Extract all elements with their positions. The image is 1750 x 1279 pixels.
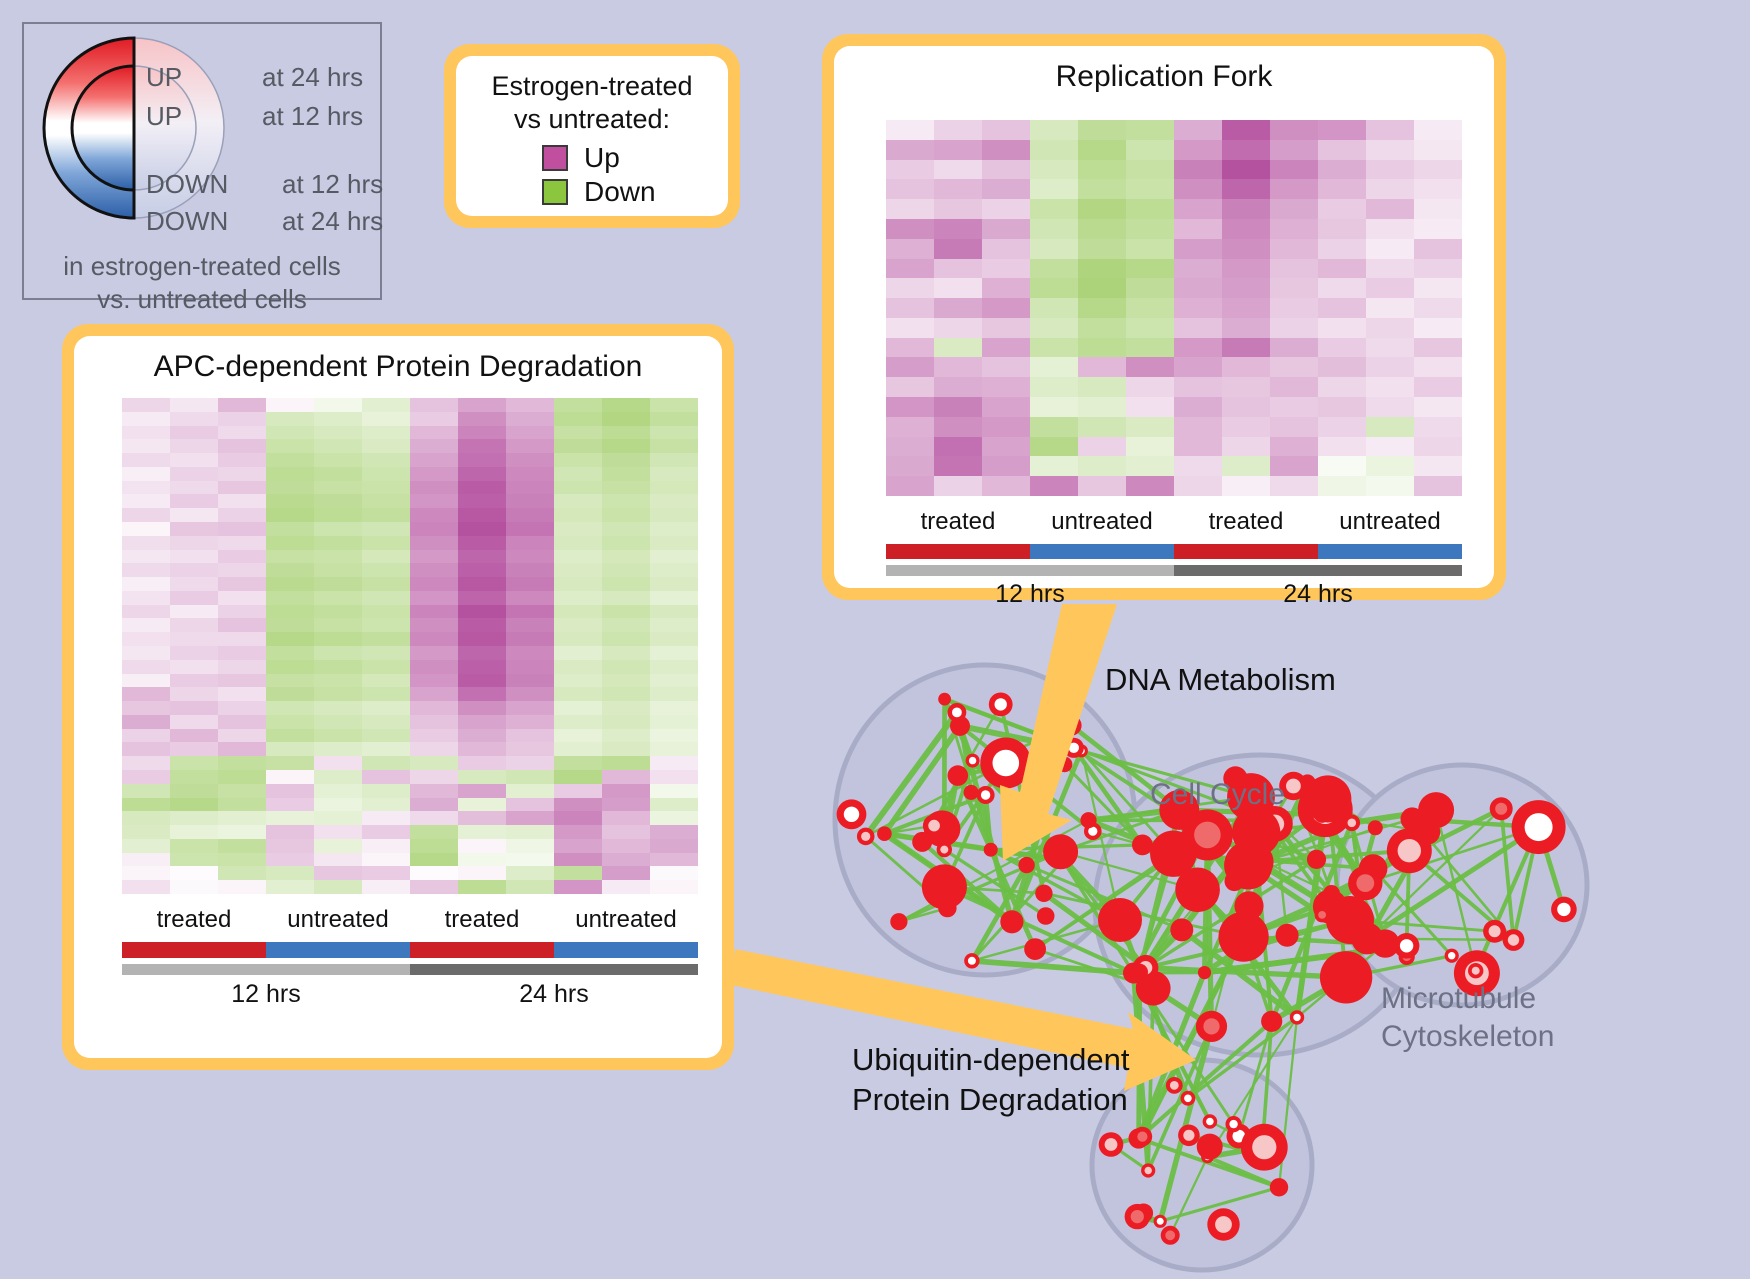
heatmap-cell [410,715,458,729]
heatmap-cell [886,259,934,279]
heatmap-cell [506,756,554,770]
heatmap-cell [1030,377,1078,397]
heatmap-cell [362,577,410,591]
cluster-label-ubiquitin-degradation: Ubiquitin-dependent Protein Degradation [852,1040,1130,1120]
heatmap-cell [218,839,266,853]
heatmap-cell [602,646,650,660]
heatmap-cell [218,522,266,536]
heatmap-cell [458,426,506,440]
heatmap-cell [650,618,698,632]
heatmap-cell [650,439,698,453]
heatmap-cell [602,577,650,591]
heatmap-cell [1030,357,1078,377]
heatmap-cell [410,742,458,756]
network-node [1150,831,1196,877]
heatmap-cell [362,756,410,770]
heatmap-cell [650,481,698,495]
network-node-core [1252,1135,1276,1159]
heatmap-cell [650,715,698,729]
heatmap-cell [602,674,650,688]
heatmap-cell [1030,476,1078,496]
heatmap-cell [218,742,266,756]
heatmap-cell [122,811,170,825]
heatmap-cell [410,508,458,522]
heatmap-cell [1414,140,1462,160]
heatmap-cell [982,377,1030,397]
heatmap-cell [458,660,506,674]
heatmap-cell [1270,278,1318,298]
heatmap-cell [650,522,698,536]
heatmap-cell [506,398,554,412]
heatmap-cell [602,770,650,784]
network-node [1037,907,1055,925]
heatmap-cell [362,605,410,619]
heatmap-cell [650,674,698,688]
heatmap-cell [266,866,314,880]
heatmap-cell [886,120,934,140]
heatmap-cell [314,481,362,495]
heatmap-cell [170,522,218,536]
heatmap-cell [934,259,982,279]
heatmap-cell [602,522,650,536]
heatmap-cell [314,618,362,632]
heatmap-cell [1222,120,1270,140]
heatmap-cell [506,522,554,536]
heatmap-cell [362,687,410,701]
heatmap-cell [266,577,314,591]
network-node-core [952,708,962,718]
heatmap-cell [1366,476,1414,496]
heatmap-cell [458,494,506,508]
heatmap-cell [934,199,982,219]
heatmap-cell [1174,219,1222,239]
heatmap-cell [1414,417,1462,437]
heatmap-cell [1078,476,1126,496]
heatmap-cell [362,508,410,522]
heatmap-cell [170,605,218,619]
heatmap-cell [458,866,506,880]
heatmap-cell [218,853,266,867]
heatmap-cell [458,632,506,646]
heatmap-cell [314,770,362,784]
network-node [1080,812,1096,828]
heatmap-cell [410,550,458,564]
heatmap-cell [1270,417,1318,437]
heatmap-cell [650,632,698,646]
heatmap-cell [554,467,602,481]
heatmap-cell [122,439,170,453]
heatmap-cell [650,701,698,715]
network-node [1307,850,1326,869]
heatmap-cell [362,839,410,853]
heatmap-cell [1366,140,1414,160]
heatmap-cell [218,825,266,839]
heatmap-cell [1126,140,1174,160]
heatmap-cell [170,591,218,605]
heatmap-cell [266,798,314,812]
heatmap-cell [1222,318,1270,338]
heatmap-cell [122,618,170,632]
heatmap-cell [1414,377,1462,397]
network-node-core [993,750,1020,777]
heatmap-cell [602,494,650,508]
heatmap-cell [218,508,266,522]
heatmap-cell [1174,456,1222,476]
heatmap-cell [362,426,410,440]
heatmap-cell [362,729,410,743]
key-up-12-time: at 12 hrs [262,101,363,132]
heatmap-cell [602,687,650,701]
heatmap-cell [982,239,1030,259]
heatmap-cell [122,687,170,701]
heatmap-cell [218,729,266,743]
heatmap-cell [362,853,410,867]
replication-fork-title: Replication Fork [834,60,1494,94]
replication-fork-time-color-bar [886,565,1462,576]
heatmap-cell [410,522,458,536]
heatmap-cell [506,591,554,605]
heatmap-cell [266,839,314,853]
heatmap-cell [650,811,698,825]
heatmap-cell [982,199,1030,219]
time-color-segment [410,964,698,975]
heatmap-cell [554,398,602,412]
replication-fork-time-labels: 12 hrs24 hrs [886,580,1462,610]
heatmap-cell [554,756,602,770]
heatmap-cell [554,742,602,756]
heatmap-cell [1414,456,1462,476]
heatmap-cell [170,660,218,674]
heatmap-cell [1318,278,1366,298]
heatmap-cell [122,426,170,440]
heatmap-cell [362,618,410,632]
heatmap-cell [934,160,982,180]
network-node-core [1508,934,1519,945]
heatmap-cell [982,357,1030,377]
key-down-12-time: at 12 hrs [282,169,383,200]
heatmap-cell [602,853,650,867]
heatmap-cell [410,811,458,825]
heatmap-cell [1366,338,1414,358]
heatmap-cell [170,536,218,550]
cluster-label-microtubule-line2: Cytoskeleton [1381,1018,1554,1056]
heatmap-cell [1222,179,1270,199]
heatmap-cell [458,467,506,481]
heatmap-cell [410,853,458,867]
heatmap-cell [218,591,266,605]
network-node [1323,885,1340,902]
heatmap-cell [122,825,170,839]
heatmap-cell [934,239,982,259]
heatmap-cell [602,453,650,467]
key-down-24-time: at 24 hrs [282,206,383,237]
group-label: untreated [554,906,698,936]
heatmap-cell [170,453,218,467]
network-node [877,826,892,841]
heatmap-cell [122,701,170,715]
heatmap-cell [1318,357,1366,377]
heatmap-cell [506,426,554,440]
legend-label-up: Up [584,142,620,174]
heatmap-cell [362,825,410,839]
heatmap-cell [554,687,602,701]
heatmap-cell [982,298,1030,318]
heatmap-cell [170,825,218,839]
heatmap-cell [554,439,602,453]
heatmap-cell [650,866,698,880]
heatmap-cell [554,426,602,440]
group-color-segment [266,942,410,958]
heatmap-cell [650,742,698,756]
heatmap-cell [218,701,266,715]
heatmap-cell [982,160,1030,180]
heatmap-cell [1126,239,1174,259]
heatmap-cell [122,563,170,577]
heatmap-cell [1222,476,1270,496]
heatmap-cell [410,798,458,812]
heatmap-cell [1318,417,1366,437]
network-node-core [1318,911,1326,919]
heatmap-cell [362,866,410,880]
heatmap-cell [1318,259,1366,279]
network-node-core [1448,952,1455,959]
group-label: treated [1174,508,1318,538]
heatmap-cell [602,426,650,440]
network-node [1232,808,1280,856]
heatmap-cell [410,398,458,412]
heatmap-cell [1078,199,1126,219]
network-node [1326,896,1374,944]
network-node [1197,1134,1223,1160]
heatmap-cell [554,715,602,729]
heatmap-cell [314,577,362,591]
heatmap-cell [1222,259,1270,279]
heatmap-cell [650,467,698,481]
heatmap-cell [1270,219,1318,239]
heatmap-cell [1222,417,1270,437]
cluster-label-ubiquitin-line2: Protein Degradation [852,1080,1130,1120]
legend-swatch-up-icon [542,145,568,171]
heatmap-cell [1030,239,1078,259]
network-node-core [1194,822,1221,849]
heatmap-cell [506,784,554,798]
heatmap-cell [266,784,314,798]
heatmap-cell [934,298,982,318]
heatmap-cell [122,577,170,591]
heatmap-cell [1366,397,1414,417]
heatmap-cell [650,577,698,591]
heatmap-cell [1174,239,1222,259]
heatmap-cell [554,646,602,660]
heatmap-cell [170,811,218,825]
heatmap-cell [362,494,410,508]
heatmap-cell [218,618,266,632]
network-node-core [1398,839,1421,862]
heatmap-cell [314,811,362,825]
heatmap-cell [218,674,266,688]
heatmap-cell [1270,476,1318,496]
heatmap-cell [122,729,170,743]
heatmap-cell [218,756,266,770]
heatmap-cell [314,508,362,522]
heatmap-cell [1270,377,1318,397]
heatmap-cell [170,563,218,577]
heatmap-cell [554,591,602,605]
heatmap-cell [554,839,602,853]
heatmap-cell [1126,417,1174,437]
network-node [922,864,967,909]
heatmap-cell [362,646,410,660]
heatmap-cell [1174,298,1222,318]
heatmap-cell [314,550,362,564]
heatmap-cell [650,398,698,412]
heatmap-cell [506,729,554,743]
heatmap-cell [266,729,314,743]
heatmap-cell [1126,377,1174,397]
heatmap-cell [458,508,506,522]
heatmap-cell [1414,179,1462,199]
heatmap-cell [1222,456,1270,476]
apc-degradation-group-color-bar [122,942,698,958]
heatmap-cell [1078,298,1126,318]
heatmap-cell [602,880,650,894]
heatmap-cell [266,563,314,577]
cluster-label-cell-cycle: Cell Cycle [1150,778,1285,812]
heatmap-cell [602,550,650,564]
heatmap-cell [1174,417,1222,437]
heatmap-cell [266,770,314,784]
heatmap-cell [1222,160,1270,180]
heatmap-cell [458,453,506,467]
heatmap-cell [122,646,170,660]
heatmap-cell [506,853,554,867]
network-node [1056,853,1071,868]
heatmap-cell [554,412,602,426]
heatmap-cell [458,398,506,412]
heatmap-cell [1126,397,1174,417]
heatmap-cell [458,563,506,577]
heatmap-cell [362,591,410,605]
heatmap-cell [1078,456,1126,476]
heatmap-cell [982,456,1030,476]
heatmap-cell [122,770,170,784]
heatmap-cell [554,550,602,564]
heatmap-cell [362,880,410,894]
heatmap-cell [122,742,170,756]
heatmap-cell [266,591,314,605]
heatmap-cell [410,453,458,467]
network-node-core [1286,779,1301,794]
heatmap-cell [1174,476,1222,496]
heatmap-cell [1414,219,1462,239]
heatmap-cell [218,577,266,591]
heatmap-cell [218,563,266,577]
heatmap-cell [554,618,602,632]
heatmap-cell [1318,219,1366,239]
heatmap-cell [650,508,698,522]
heatmap-cell [886,278,934,298]
heatmap-cell [218,646,266,660]
heatmap-cell [410,784,458,798]
heatmap-cell [170,756,218,770]
heatmap-cell [170,715,218,729]
heatmap-cell [170,853,218,867]
time-label: 12 hrs [122,980,410,1012]
network-node-core [981,790,990,799]
heatmap-cell [650,729,698,743]
heatmap-cell [314,880,362,894]
heatmap-cell [170,632,218,646]
heatmap-cell [554,770,602,784]
heatmap-cell [1414,298,1462,318]
group-label: treated [122,906,266,936]
heatmap-cell [1078,239,1126,259]
cluster-label-dna-metabolism: DNA Metabolism [1105,662,1336,698]
heatmap-cell [1126,219,1174,239]
network-node [1314,807,1330,823]
network-node-core [1165,1230,1175,1240]
heatmap-cell [1366,179,1414,199]
heatmap-cell [1414,160,1462,180]
network-node [1368,820,1383,835]
heatmap-cell [1222,357,1270,377]
network-node-core [1137,1132,1147,1142]
heatmap-cell [314,729,362,743]
network-node-core [1131,1210,1144,1223]
heatmap-cell [934,219,982,239]
apc-degradation-title: APC-dependent Protein Degradation [74,350,722,384]
network-node [964,785,979,800]
heatmap-cell [314,412,362,426]
figure-canvas: UP at 24 hrs UP at 12 hrs DOWN at 12 hrs… [0,0,1750,1279]
heatmap-cell [934,140,982,160]
replication-fork-group-color-bar [886,544,1462,559]
heatmap-cell [266,550,314,564]
heatmap-cell [314,825,362,839]
network-node-core [1203,1018,1219,1034]
heatmap-cell [410,605,458,619]
heatmap-cell [982,417,1030,437]
heatmap-cell [1366,278,1414,298]
heatmap-cell [554,674,602,688]
heatmap-cell [362,770,410,784]
legend-label-down: Down [584,176,656,208]
network-node-core [844,807,859,822]
heatmap-cell [458,481,506,495]
heatmap-cell [362,674,410,688]
heatmap-cell [170,729,218,743]
heatmap-cell [362,439,410,453]
replication-fork-group-labels: treateduntreatedtreateduntreated [886,508,1462,538]
heatmap-cell [1414,278,1462,298]
network-node-core [1356,874,1374,892]
heatmap-cell [170,742,218,756]
heatmap-cell [1270,298,1318,318]
heatmap-cell [886,298,934,318]
heatmap-cell [314,467,362,481]
heatmap-cell [362,453,410,467]
heatmap-cell [362,660,410,674]
heatmap-cell [506,453,554,467]
heatmap-cell [1270,357,1318,377]
heatmap-cell [886,179,934,199]
network-node-core [1348,819,1357,828]
heatmap-cell [602,605,650,619]
network-node-core [1066,720,1077,731]
heatmap-cell [362,536,410,550]
heatmap-cell [458,536,506,550]
heatmap-cell [1318,338,1366,358]
